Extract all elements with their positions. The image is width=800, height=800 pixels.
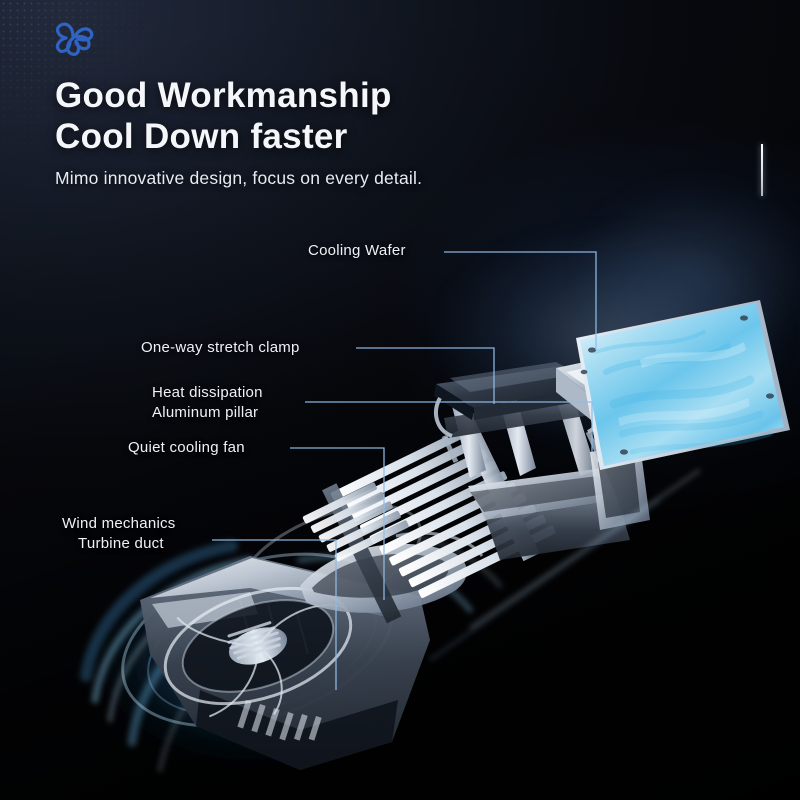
page-subheadline: Mimo innovative design, focus on every d…	[55, 168, 422, 189]
callout-one-way-clamp: One-way stretch clamp	[141, 338, 300, 358]
product-infographic: Good Workmanship Cool Down faster Mimo i…	[0, 0, 800, 800]
callout-label: One-way stretch clamp	[141, 339, 300, 356]
leader-wind-turbine-duct	[212, 540, 336, 690]
callout-label-line-1: Wind mechanics	[62, 515, 176, 532]
vertical-accent-bar	[761, 144, 763, 196]
callout-aluminum-pillar: Heat dissipation Aluminum pillar	[152, 383, 263, 423]
callout-label-line-2: Aluminum pillar	[152, 403, 263, 423]
callout-label-line-1: Heat dissipation	[152, 384, 263, 401]
callout-quiet-cooling-fan: Quiet cooling fan	[128, 438, 245, 458]
callout-label: Cooling Wafer	[308, 242, 406, 259]
headline-line-2: Cool Down faster	[55, 117, 695, 158]
leader-aluminum-pillar	[305, 402, 592, 452]
leader-one-way-clamp	[356, 348, 494, 404]
callout-cooling-wafer: Cooling Wafer	[308, 241, 406, 261]
leader-quiet-cooling-fan	[290, 448, 384, 600]
callout-wind-turbine-duct: Wind mechanics Turbine duct	[62, 514, 176, 554]
callout-label: Quiet cooling fan	[128, 439, 245, 456]
fan-propeller-logo	[46, 16, 102, 60]
leader-cooling-wafer	[444, 252, 596, 350]
page-headline: Good Workmanship Cool Down faster	[55, 76, 695, 158]
callout-label-line-2: Turbine duct	[62, 534, 176, 554]
headline-line-1: Good Workmanship	[55, 76, 695, 117]
